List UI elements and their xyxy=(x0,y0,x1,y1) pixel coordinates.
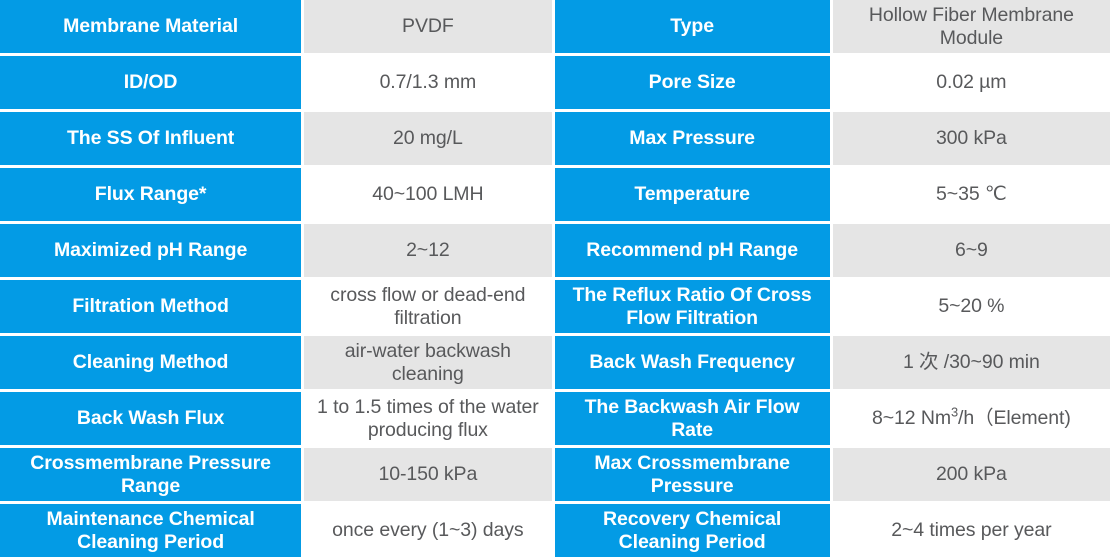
row-label-right: Max Crossmembrane Pressure xyxy=(555,448,830,501)
row-label-left: Crossmembrane Pressure Range xyxy=(0,448,301,501)
row-label-left: Maximized pH Range xyxy=(0,224,301,277)
row-value-left: 2~12 xyxy=(304,224,551,277)
row-label-right: Max Pressure xyxy=(555,112,830,165)
row-value-left: 20 mg/L xyxy=(304,112,551,165)
row-value-right: 1 次 /30~90 min xyxy=(833,336,1110,389)
row-value-left: PVDF xyxy=(304,0,551,53)
table-row: Maximized pH Range2~12Recommend pH Range… xyxy=(0,224,1110,277)
table-row: Flux Range*40~100 LMHTemperature5~35 ℃ xyxy=(0,168,1110,221)
row-value-left: 10-150 kPa xyxy=(304,448,551,501)
row-value-left: 40~100 LMH xyxy=(304,168,551,221)
table-row: The SS Of Influent20 mg/LMax Pressure300… xyxy=(0,112,1110,165)
membrane-specification-table: Membrane MaterialPVDFTypeHollow Fiber Me… xyxy=(0,0,1110,557)
table-row: Back Wash Flux1 to 1.5 times of the wate… xyxy=(0,392,1110,445)
row-label-right: The Reflux Ratio Of Cross Flow Filtratio… xyxy=(555,280,830,333)
table-row: ID/OD0.7/1.3 mmPore Size0.02 µm xyxy=(0,56,1110,109)
row-label-left: Maintenance Chemical Cleaning Period xyxy=(0,504,301,557)
row-label-left: Cleaning Method xyxy=(0,336,301,389)
row-label-left: Membrane Material xyxy=(0,0,301,53)
row-label-right: The Backwash Air Flow Rate xyxy=(555,392,830,445)
row-value-left: 1 to 1.5 times of the water producing fl… xyxy=(304,392,551,445)
row-label-right: Pore Size xyxy=(555,56,830,109)
row-value-right: 2~4 times per year xyxy=(833,504,1110,557)
table-row: Filtration Methodcross flow or dead-end … xyxy=(0,280,1110,333)
table-row: Membrane MaterialPVDFTypeHollow Fiber Me… xyxy=(0,0,1110,53)
row-value-right: 5~20 % xyxy=(833,280,1110,333)
table-row: Cleaning Methodair-water backwash cleani… xyxy=(0,336,1110,389)
row-value-left: cross flow or dead-end filtration xyxy=(304,280,551,333)
row-value-right: 300 kPa xyxy=(833,112,1110,165)
row-value-left: once every (1~3) days xyxy=(304,504,551,557)
table-row: Crossmembrane Pressure Range10-150 kPaMa… xyxy=(0,448,1110,501)
row-label-left: ID/OD xyxy=(0,56,301,109)
row-value-right: 6~9 xyxy=(833,224,1110,277)
row-value-right: 200 kPa xyxy=(833,448,1110,501)
row-label-left: Flux Range* xyxy=(0,168,301,221)
row-label-left: Back Wash Flux xyxy=(0,392,301,445)
row-value-right-rich: 8~12 Nm3/h（Element) xyxy=(872,407,1071,430)
row-value-left: air-water backwash cleaning xyxy=(304,336,551,389)
row-value-right: Hollow Fiber Membrane Module xyxy=(833,0,1110,53)
row-label-right: Temperature xyxy=(555,168,830,221)
row-label-right: Back Wash Frequency xyxy=(555,336,830,389)
row-label-left: The SS Of Influent xyxy=(0,112,301,165)
row-label-right: Type xyxy=(555,0,830,53)
row-value-right: 8~12 Nm3/h（Element) xyxy=(833,392,1110,445)
row-label-right: Recommend pH Range xyxy=(555,224,830,277)
row-label-left: Filtration Method xyxy=(0,280,301,333)
row-value-left: 0.7/1.3 mm xyxy=(304,56,551,109)
row-value-right: 5~35 ℃ xyxy=(833,168,1110,221)
row-label-right: Recovery Chemical Cleaning Period xyxy=(555,504,830,557)
row-value-right: 0.02 µm xyxy=(833,56,1110,109)
table-row: Maintenance Chemical Cleaning Periodonce… xyxy=(0,504,1110,557)
